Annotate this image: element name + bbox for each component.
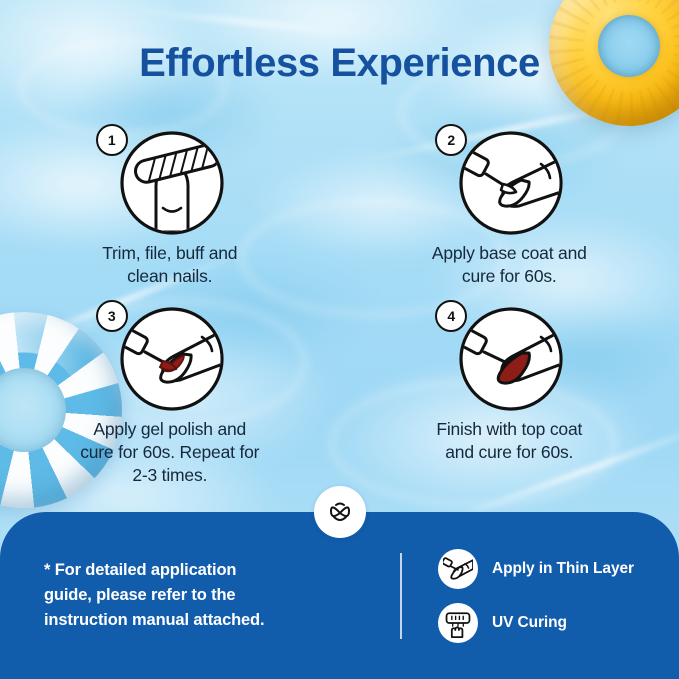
banner-note-line3: instruction manual attached.	[44, 608, 396, 633]
base-coat-brush-icon	[455, 130, 567, 236]
step-1-caption-line1: Trim, file, buff and	[102, 242, 237, 265]
step-1-art-wrap: 1	[94, 124, 246, 236]
feature-label-uv-curing: UV Curing	[492, 614, 567, 632]
step-1-caption-line2: clean nails.	[102, 265, 237, 288]
thin-layer-brush-icon	[438, 549, 478, 589]
poster: Effortless Experience 1	[0, 0, 679, 679]
step-4-caption-line1: Finish with top coat	[436, 418, 582, 441]
page-title: Effortless Experience	[0, 41, 679, 86]
steps-row-2: 3	[0, 300, 679, 487]
steps-row-1: 1	[0, 124, 679, 288]
step-3-art-wrap: 3	[94, 300, 246, 412]
step-3: 3	[0, 300, 340, 487]
step-2-caption-line2: cure for 60s.	[432, 265, 587, 288]
banner-divider	[400, 553, 402, 639]
step-4-art-wrap: 4	[433, 300, 585, 412]
feature-apply-thin-layer: Apply in Thin Layer	[438, 549, 634, 589]
steps-section: 1	[0, 124, 679, 487]
banner-note-line2: guide, please refer to the	[44, 583, 396, 608]
feature-uv-curing: UV Curing	[438, 603, 634, 643]
feature-label-thin-layer: Apply in Thin Layer	[492, 560, 634, 578]
step-2-caption-line1: Apply base coat and	[432, 242, 587, 265]
banner-features: Apply in Thin Layer	[438, 549, 634, 643]
top-coat-brush-icon	[455, 306, 567, 412]
step-4: 4 Finish	[340, 300, 679, 487]
step-3-caption-line1: Apply gel polish and	[80, 418, 259, 441]
step-4-caption-line2: and cure for 60s.	[436, 441, 582, 464]
step-2-number-badge: 2	[435, 124, 467, 156]
banner-note: * For detailed application guide, please…	[0, 558, 396, 633]
step-2-caption: Apply base coat and cure for 60s.	[432, 242, 587, 288]
uv-lamp-icon	[438, 603, 478, 643]
nail-file-icon	[116, 130, 228, 236]
banner-note-line1: * For detailed application	[44, 558, 396, 583]
step-1-caption: Trim, file, buff and clean nails.	[102, 242, 237, 288]
step-1-number-badge: 1	[96, 124, 128, 156]
step-2: 2	[340, 124, 679, 288]
step-3-number-badge: 3	[96, 300, 128, 332]
step-3-caption: Apply gel polish and cure for 60s. Repea…	[80, 418, 259, 487]
step-2-art-wrap: 2	[433, 124, 585, 236]
step-3-caption-line2: cure for 60s. Repeat for	[80, 441, 259, 464]
step-1: 1	[0, 124, 340, 288]
banner-content: * For detailed application guide, please…	[0, 512, 679, 679]
step-4-caption: Finish with top coat and cure for 60s.	[436, 418, 582, 464]
gel-polish-brush-icon	[116, 306, 228, 412]
step-3-caption-line3: 2-3 times.	[80, 464, 259, 487]
bottom-banner: * For detailed application guide, please…	[0, 512, 679, 679]
